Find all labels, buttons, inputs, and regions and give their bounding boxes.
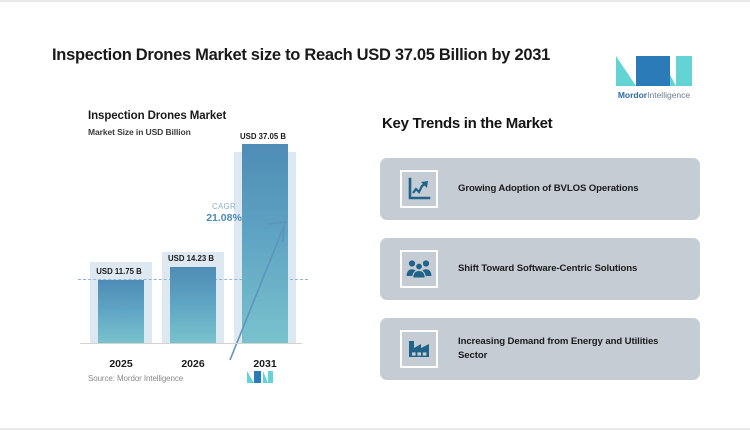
factory-icon — [406, 336, 432, 362]
trend-label: Increasing Demand from Energy and Utilit… — [458, 318, 686, 380]
logo-word-light: Intelligence — [647, 90, 690, 100]
key-trends-panel: Key Trends in the Market Growing Adoptio… — [374, 110, 702, 382]
x-tick-2025: 2025 — [90, 358, 152, 370]
bar-label-2026: USD 14.23 B — [148, 254, 234, 263]
logo-mark-icon — [612, 52, 696, 90]
key-trends-title: Key Trends in the Market — [382, 115, 552, 132]
cagr-annotation: CAGR 21.08% — [196, 202, 252, 224]
trend-icon-frame — [400, 170, 438, 208]
infographic-page: Inspection Drones Market size to Reach U… — [0, 0, 750, 430]
page-title: Inspection Drones Market size to Reach U… — [52, 46, 550, 65]
x-tick-2031: 2031 — [234, 358, 296, 370]
trend-card[interactable]: Shift Toward Software-Centric Solutions — [380, 238, 700, 300]
line-chart-growth-icon — [406, 176, 432, 202]
trend-card[interactable]: Increasing Demand from Energy and Utilit… — [380, 318, 700, 380]
logo-word-bold: Mordor — [618, 90, 647, 100]
cagr-value: 21.08% — [196, 212, 252, 224]
bar-2026 — [170, 267, 216, 344]
chart-subtitle: Market Size in USD Billion — [88, 127, 191, 137]
header: Inspection Drones Market size to Reach U… — [0, 24, 750, 86]
trend-card[interactable]: Growing Adoption of BVLOS Operations — [380, 158, 700, 220]
x-tick-2026: 2026 — [162, 358, 224, 370]
cagr-label: CAGR — [196, 202, 252, 211]
trend-label: Shift Toward Software-Centric Solutions — [458, 238, 686, 300]
chart-title: Inspection Drones Market — [88, 110, 226, 122]
chart-source-logo-icon — [246, 370, 274, 384]
bar-2031 — [242, 144, 288, 344]
bar-2025 — [98, 280, 144, 344]
logo-wordmark: MordorIntelligence — [612, 90, 696, 100]
people-group-icon — [406, 256, 432, 282]
bar-label-2031: USD 37.05 B — [220, 132, 306, 141]
chart-panel: Inspection Drones Market Market Size in … — [78, 106, 308, 390]
trend-label: Growing Adoption of BVLOS Operations — [458, 158, 686, 220]
trend-icon-frame — [400, 250, 438, 288]
bar-label-2025: USD 11.75 B — [76, 267, 162, 276]
trend-icon-frame — [400, 330, 438, 368]
x-axis-line — [80, 343, 302, 344]
mordor-intelligence-logo: MordorIntelligence — [612, 52, 696, 104]
bar-chart-plot: USD 11.75 B USD 14.23 B USD 37.05 B CAGR… — [78, 152, 308, 352]
chart-source-text: Source: Mordor Intelligence — [88, 374, 183, 383]
